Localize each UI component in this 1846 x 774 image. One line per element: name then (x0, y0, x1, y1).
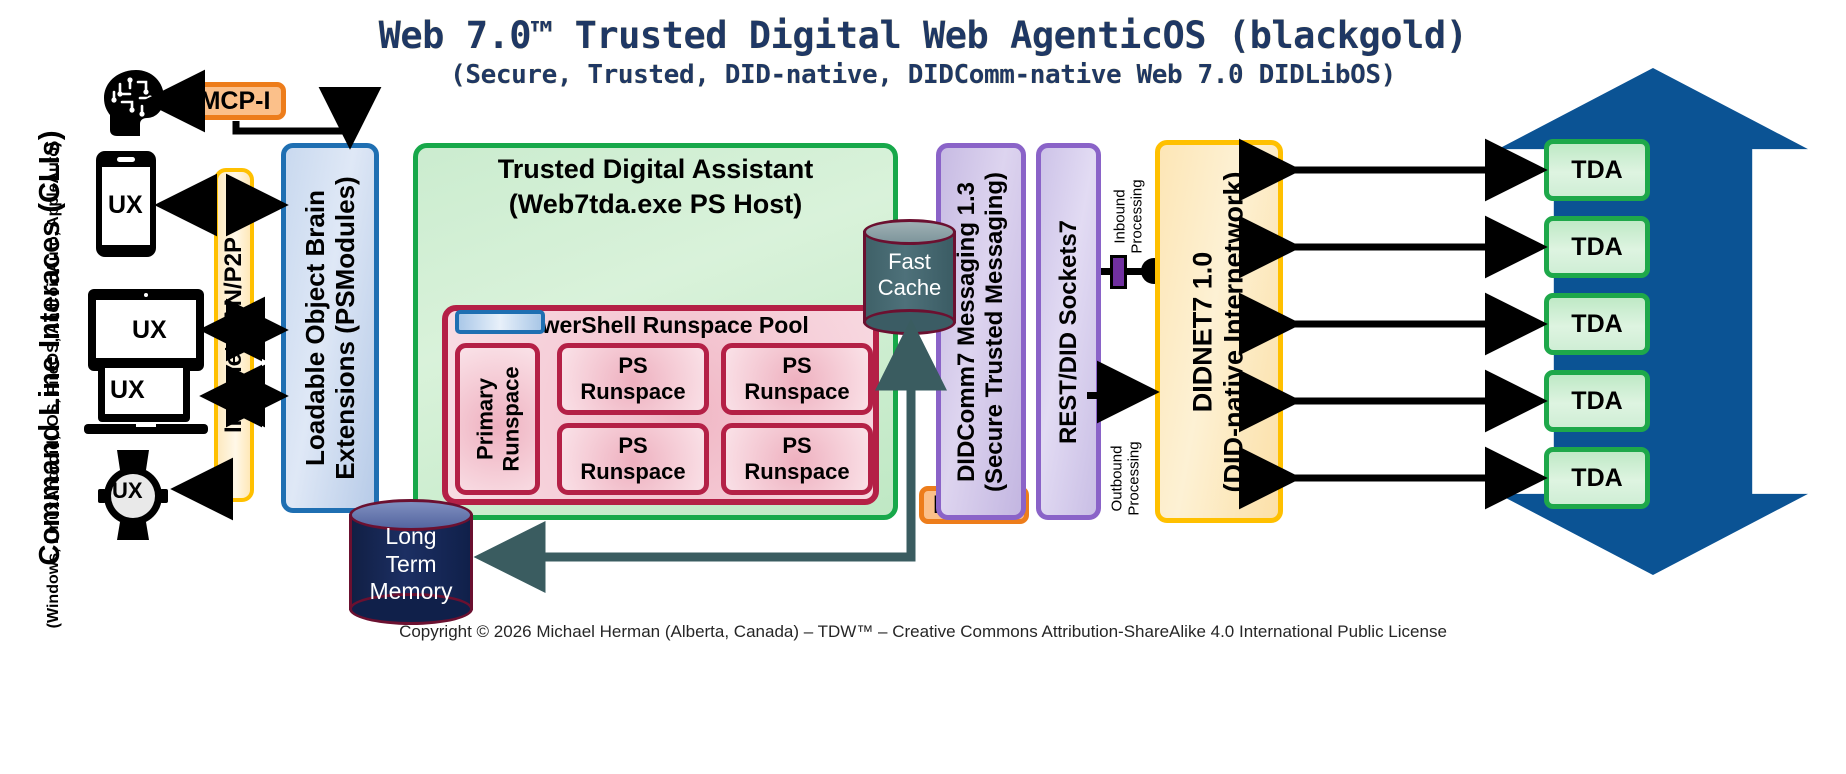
vtc-tda-node[interactable]: TDA (1544, 293, 1650, 355)
ps-runspace[interactable]: PS Runspace (721, 343, 873, 415)
laptop-icon (84, 360, 208, 440)
fast-cache-line1: Fast (888, 249, 931, 274)
vtc-tda-node[interactable]: TDA (1544, 370, 1650, 432)
primary-runspace[interactable]: Primary Runspace (455, 343, 540, 495)
fast-cache-datastore[interactable]: Fast Cache (863, 219, 956, 329)
long-term-memory-datastore[interactable]: Long Term Memory (349, 499, 473, 623)
internet-lan-p2p-column[interactable]: Internet/LAN/P2P (214, 168, 254, 502)
outbound-port-chip[interactable] (1100, 379, 1117, 413)
didnet7-column[interactable]: DIDNET7 1.0 (DID-native Internetwork) (1155, 140, 1283, 523)
primary-runspace-label: Primary Runspace (472, 366, 523, 471)
ltm-line2: Term (385, 551, 436, 577)
ps-runspace-label: PS Runspace (580, 433, 685, 486)
ps-runspace[interactable]: PS Runspace (557, 343, 709, 415)
rs1-line1: PS (782, 353, 811, 378)
lob-line2: Extensions (PSModules) (330, 176, 360, 479)
rest-did-sockets7-label: REST/DID Sockets7 (1055, 219, 1083, 443)
vtc-tda-node[interactable]: TDA (1544, 216, 1650, 278)
primary-line2: Runspace (498, 366, 523, 471)
vtc-tda-node[interactable]: TDA (1544, 139, 1650, 201)
loadable-object-brain-label: Loadable Object Brain Extensions (PSModu… (300, 176, 360, 479)
didnet7-label: DIDNET7 1.0 (DID-native Internetwork) (1188, 171, 1251, 492)
loadable-object-brain-extensions-column[interactable]: Loadable Object Brain Extensions (PSModu… (281, 143, 379, 513)
tda-panel-title: Trusted Digital Assistant (Web7tda.exe P… (413, 152, 898, 221)
tda-title-line2: (Web7tda.exe PS Host) (509, 189, 803, 219)
rs2-line2: Runspace (580, 459, 685, 484)
copyright-notice: Copyright © 2026 Michael Herman (Alberta… (0, 622, 1846, 642)
rs3-line2: Runspace (744, 459, 849, 484)
didcomm-line1: DIDComm7 Messaging 1.3 (953, 181, 980, 481)
page-title: Web 7.0™ Trusted Digital Web AgenticOS (… (0, 14, 1846, 57)
didcomm7-messaging-column[interactable]: DIDComm7 Messaging 1.3 (Secure Trusted M… (936, 143, 1026, 520)
rs0-line1: PS (618, 353, 647, 378)
internet-label: Internet/LAN/P2P (220, 237, 248, 433)
outbound-line2: Processing (1125, 441, 1142, 515)
ltm-line1: Long (385, 523, 436, 549)
ps-runspace-label: PS Runspace (744, 433, 849, 486)
outbound-processing-label: Outbound Processing (1110, 424, 1143, 534)
brain-head-icon (96, 66, 170, 138)
watch-ux-label: UX (112, 478, 143, 504)
ps-runspace-label: PS Runspace (580, 353, 685, 406)
tda-title-line1: Trusted Digital Assistant (498, 154, 814, 184)
lob-line1: Loadable Object Brain (300, 190, 330, 466)
phone-ux-label: UX (108, 191, 143, 220)
rs3-line1: PS (782, 433, 811, 458)
laptop-ux-label: UX (110, 376, 145, 405)
ps-runspace[interactable]: PS Runspace (721, 423, 873, 495)
didcomm-line2: (Secure Trusted Messaging) (981, 171, 1008, 491)
primary-line1: Primary (472, 378, 497, 460)
runspace-progress-bar[interactable] (455, 310, 545, 334)
rs0-line2: Runspace (580, 379, 685, 404)
long-term-memory-label: Long Term Memory (349, 523, 473, 606)
didcomm7-label: DIDComm7 Messaging 1.3 (Secure Trusted M… (953, 171, 1009, 491)
fast-cache-top (863, 219, 956, 245)
fast-cache-bottom (863, 309, 956, 335)
mcp-i-badge[interactable]: MCP-I (184, 82, 286, 120)
rs1-line2: Runspace (744, 379, 849, 404)
vtc-tda-node[interactable]: TDA (1544, 447, 1650, 509)
didnet-line2: (DID-native Internetwork) (1219, 171, 1249, 492)
inbound-port-chip[interactable] (1110, 255, 1127, 289)
ps-runspace[interactable]: PS Runspace (557, 423, 709, 495)
inbound-line2: Processing (1128, 179, 1145, 253)
didnet-line1: DIDNET7 1.0 (1188, 251, 1218, 412)
rs2-line1: PS (618, 433, 647, 458)
inbound-line1: Inbound (1112, 189, 1129, 243)
ps-runspace-label: PS Runspace (744, 353, 849, 406)
outbound-line1: Outbound (1109, 446, 1126, 512)
rest-did-sockets7-column[interactable]: REST/DID Sockets7 (1036, 143, 1101, 520)
tablet-ux-label: UX (132, 316, 167, 345)
ltm-line3: Memory (369, 578, 452, 604)
fast-cache-label: Fast Cache (863, 249, 956, 301)
cli-rail-sublabel: (Windows, LinuxAndroid, iOS, FireOS, And… (45, 105, 71, 665)
fast-cache-line2: Cache (878, 275, 942, 300)
